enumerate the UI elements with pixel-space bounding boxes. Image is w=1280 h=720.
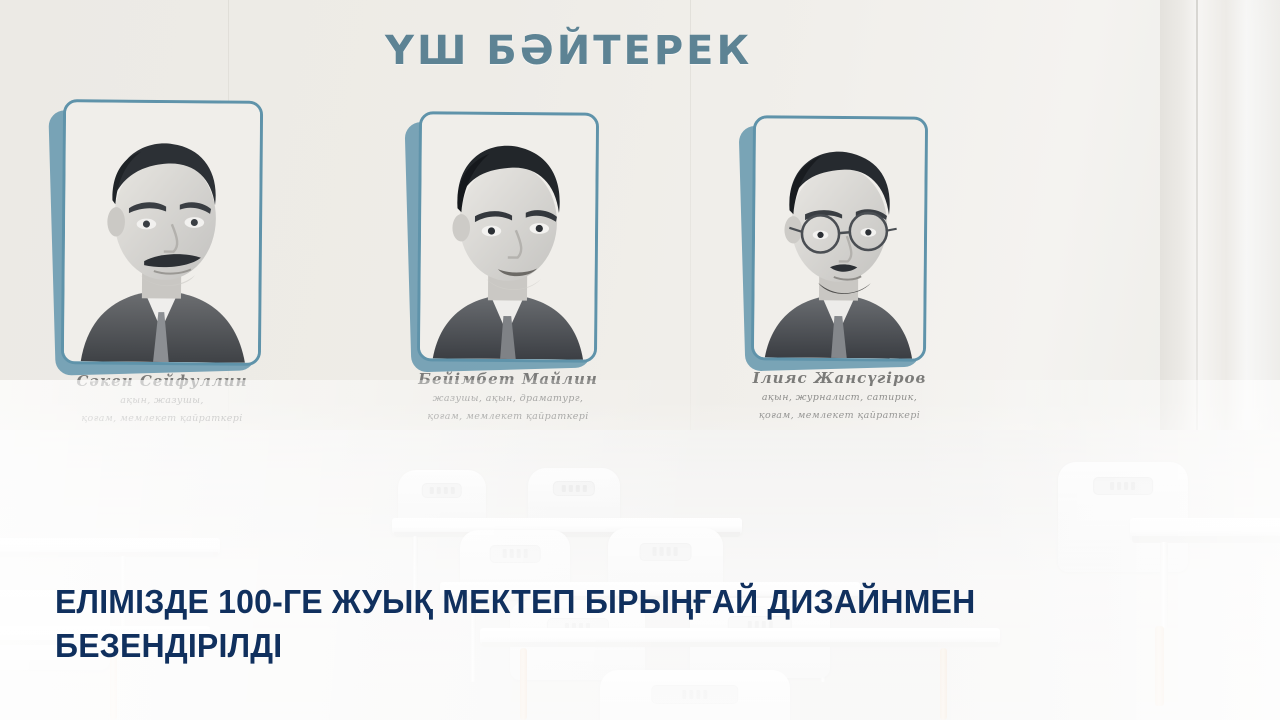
chair-handle-slots xyxy=(490,545,541,563)
portrait-role-line-1: ақын, журналист, сатирик, xyxy=(752,391,927,405)
chair-handle-slots xyxy=(1093,477,1153,495)
chair-handle-slots xyxy=(422,483,462,498)
desk-edge xyxy=(0,552,218,557)
headline-line-2: БЕЗЕНДІРІЛДІ xyxy=(55,624,1141,668)
chair-backrest xyxy=(600,670,790,720)
portrait-role-line-2: қоғам, мемлекет қайраткері xyxy=(752,409,927,423)
portrait-caption-mailin: Бейімбет Майлин жазушы, ақын, драматург,… xyxy=(418,370,598,424)
portrait-illustration-seifullin xyxy=(64,102,260,363)
portrait-caption-seifullin: Сәкен Сейфуллин ақын, жазушы, қоғам, мем… xyxy=(62,372,262,426)
portrait-frame xyxy=(61,99,263,366)
chair-handle-slots xyxy=(651,685,738,703)
chair-handle-slots xyxy=(639,543,692,561)
chair-handle-slots xyxy=(553,481,595,496)
headline-line-1: ЕЛІМІЗДЕ 100-ГЕ ЖУЫҚ МЕКТЕП БІРЫҢҒАЙ ДИЗ… xyxy=(55,580,1141,624)
portrait-name: Ілияс Жансүгіров xyxy=(752,369,927,387)
mural-title: ҮШ БӘЙТЕРЕК xyxy=(385,28,752,74)
headline-overlay: ЕЛІМІЗДЕ 100-ГЕ ЖУЫҚ МЕКТЕП БІРЫҢҒАЙ ДИЗ… xyxy=(55,580,1141,668)
portrait-role-line-1: ақын, жазушы, xyxy=(62,394,262,408)
desk-top xyxy=(1130,518,1280,538)
portrait-role-line-2: қоғам, мемлекет қайраткері xyxy=(418,410,598,424)
portrait-name: Бейімбет Майлин xyxy=(418,370,598,388)
classroom-furniture-area xyxy=(0,430,1280,720)
news-banner: ҮШ БӘЙТЕРЕК xyxy=(0,0,1280,720)
portrait-frame xyxy=(417,111,599,363)
portrait-card-mailin: Бейімбет Майлин жазушы, ақын, драматург,… xyxy=(418,112,598,362)
portrait-card-zhansugirov: Ілияс Жансүгіров ақын, журналист, сатири… xyxy=(752,116,927,361)
portrait-role-line-1: жазушы, ақын, драматург, xyxy=(418,392,598,406)
classroom-chair xyxy=(600,670,790,720)
portrait-role-line-2: қоғам, мемлекет қайраткері xyxy=(62,412,262,426)
portrait-illustration-zhansugirov xyxy=(754,118,925,358)
portrait-caption-zhansugirov: Ілияс Жансүгіров ақын, журналист, сатири… xyxy=(752,369,927,423)
portrait-illustration-mailin xyxy=(420,114,596,360)
classroom-desk xyxy=(1130,518,1280,628)
portrait-name: Сәкен Сейфуллин xyxy=(62,372,262,390)
portrait-card-seifullin: Сәкен Сейфуллин ақын, жазушы, қоғам, мем… xyxy=(62,100,262,365)
portrait-frame xyxy=(751,115,928,362)
desk-edge xyxy=(1132,536,1280,543)
